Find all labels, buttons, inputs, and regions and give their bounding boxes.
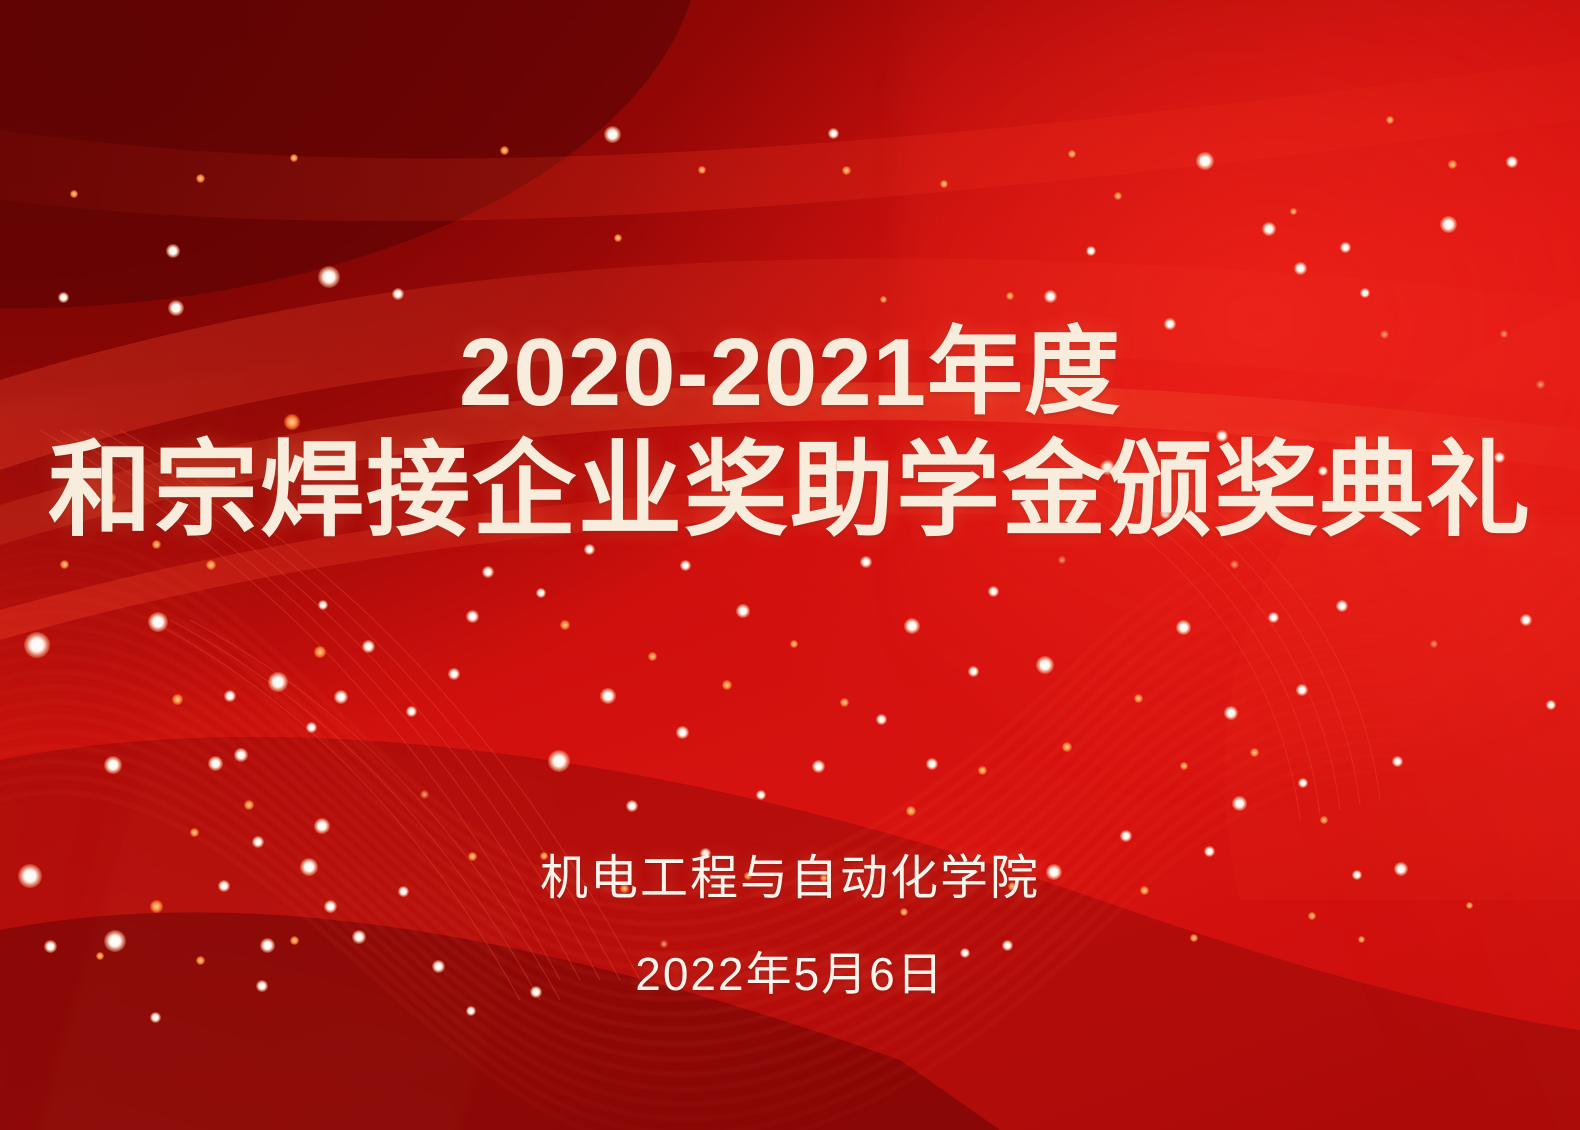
subtitle-organization: 机电工程与自动化学院 [0, 838, 1580, 908]
title-line-year: 2020-2021年度 [0, 322, 1580, 424]
title-slide: 2020-2021年度 和宗焊接企业奖助学金颁奖典礼 机电工程与自动化学院 20… [0, 0, 1580, 1130]
title-line-event: 和宗焊接企业奖助学金颁奖典礼 [0, 436, 1580, 546]
subtitle-date: 2022年5月6日 [0, 938, 1580, 1004]
main-title: 2020-2021年度 和宗焊接企业奖助学金颁奖典礼 [0, 322, 1580, 546]
subtitle-block: 机电工程与自动化学院 2022年5月6日 [0, 838, 1580, 1004]
slide-content: 2020-2021年度 和宗焊接企业奖助学金颁奖典礼 机电工程与自动化学院 20… [0, 0, 1580, 1130]
